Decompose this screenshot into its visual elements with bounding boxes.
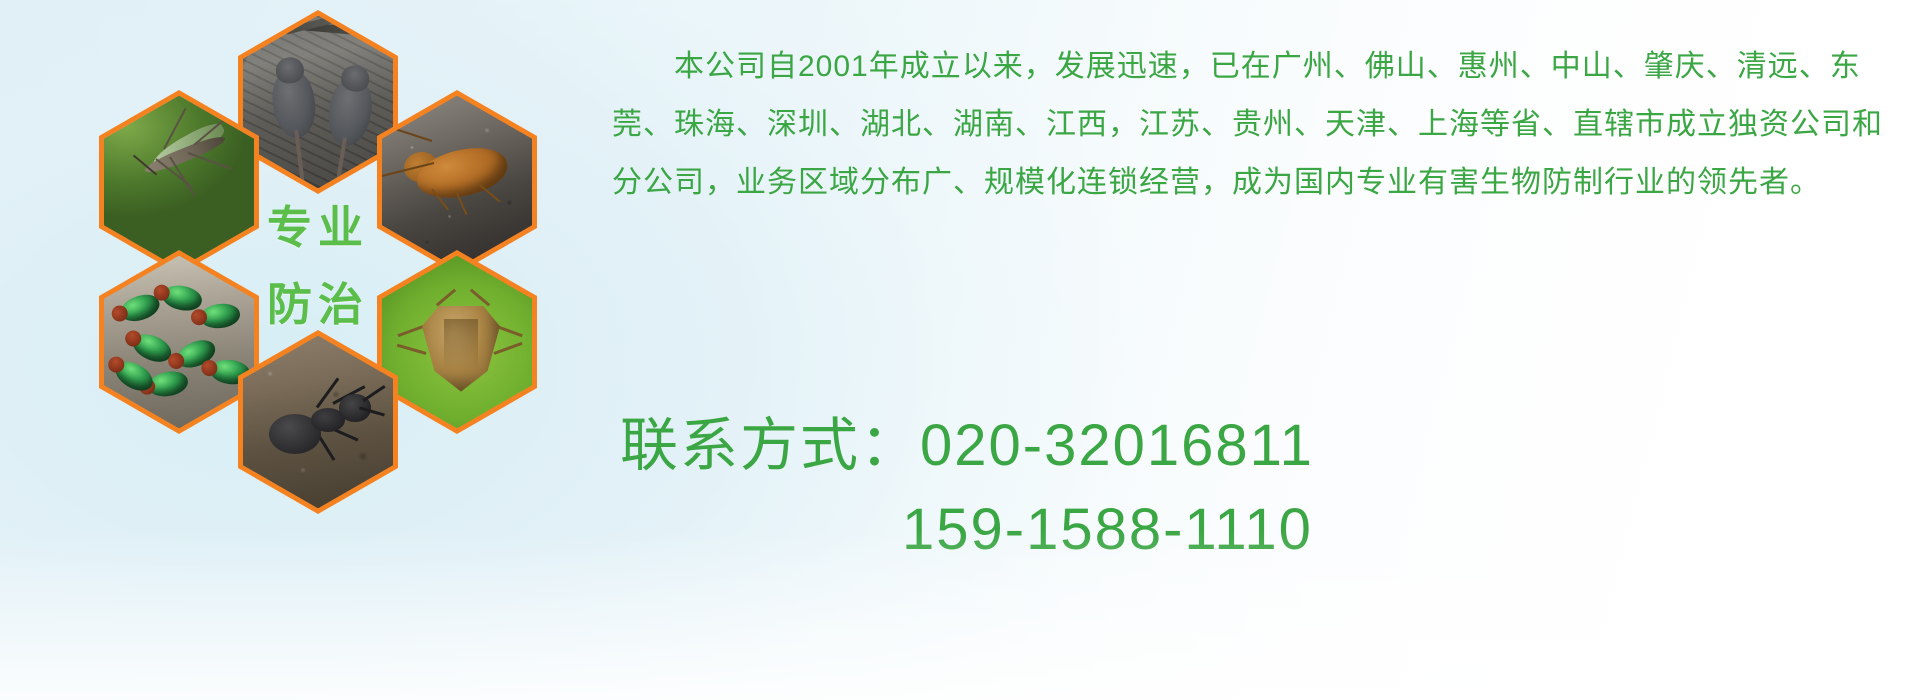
contact-phone-primary: 联系方式：020-32016811 — [620, 398, 1880, 482]
flies-photo — [99, 250, 259, 434]
mosquito-photo — [99, 90, 259, 274]
company-description: 本公司自2001年成立以来，发展迅速，已在广州、佛山、惠州、中山、肇庆、清远、东… — [612, 38, 1912, 212]
contact-phone-secondary: 159-1588-1110 — [620, 496, 1880, 563]
hex-photo-cluster: 专业 防治 — [95, 10, 595, 570]
rats-photo — [238, 10, 398, 194]
description-paragraph: 本公司自2001年成立以来，发展迅速，已在广州、佛山、惠州、中山、肇庆、清远、东… — [612, 38, 1907, 212]
badge-line-2: 防治 — [267, 268, 369, 333]
contact-block: 联系方式：020-32016811 159-1588-1110 — [620, 398, 1880, 563]
stinkbug-photo — [377, 250, 537, 434]
badge-hex: 专业 防治 — [238, 170, 398, 354]
badge-line-1: 专业 — [267, 191, 369, 256]
pest-control-banner: 专业 防治 — [0, 0, 1920, 700]
ant-photo — [238, 330, 398, 514]
cockroach-photo — [377, 90, 537, 274]
